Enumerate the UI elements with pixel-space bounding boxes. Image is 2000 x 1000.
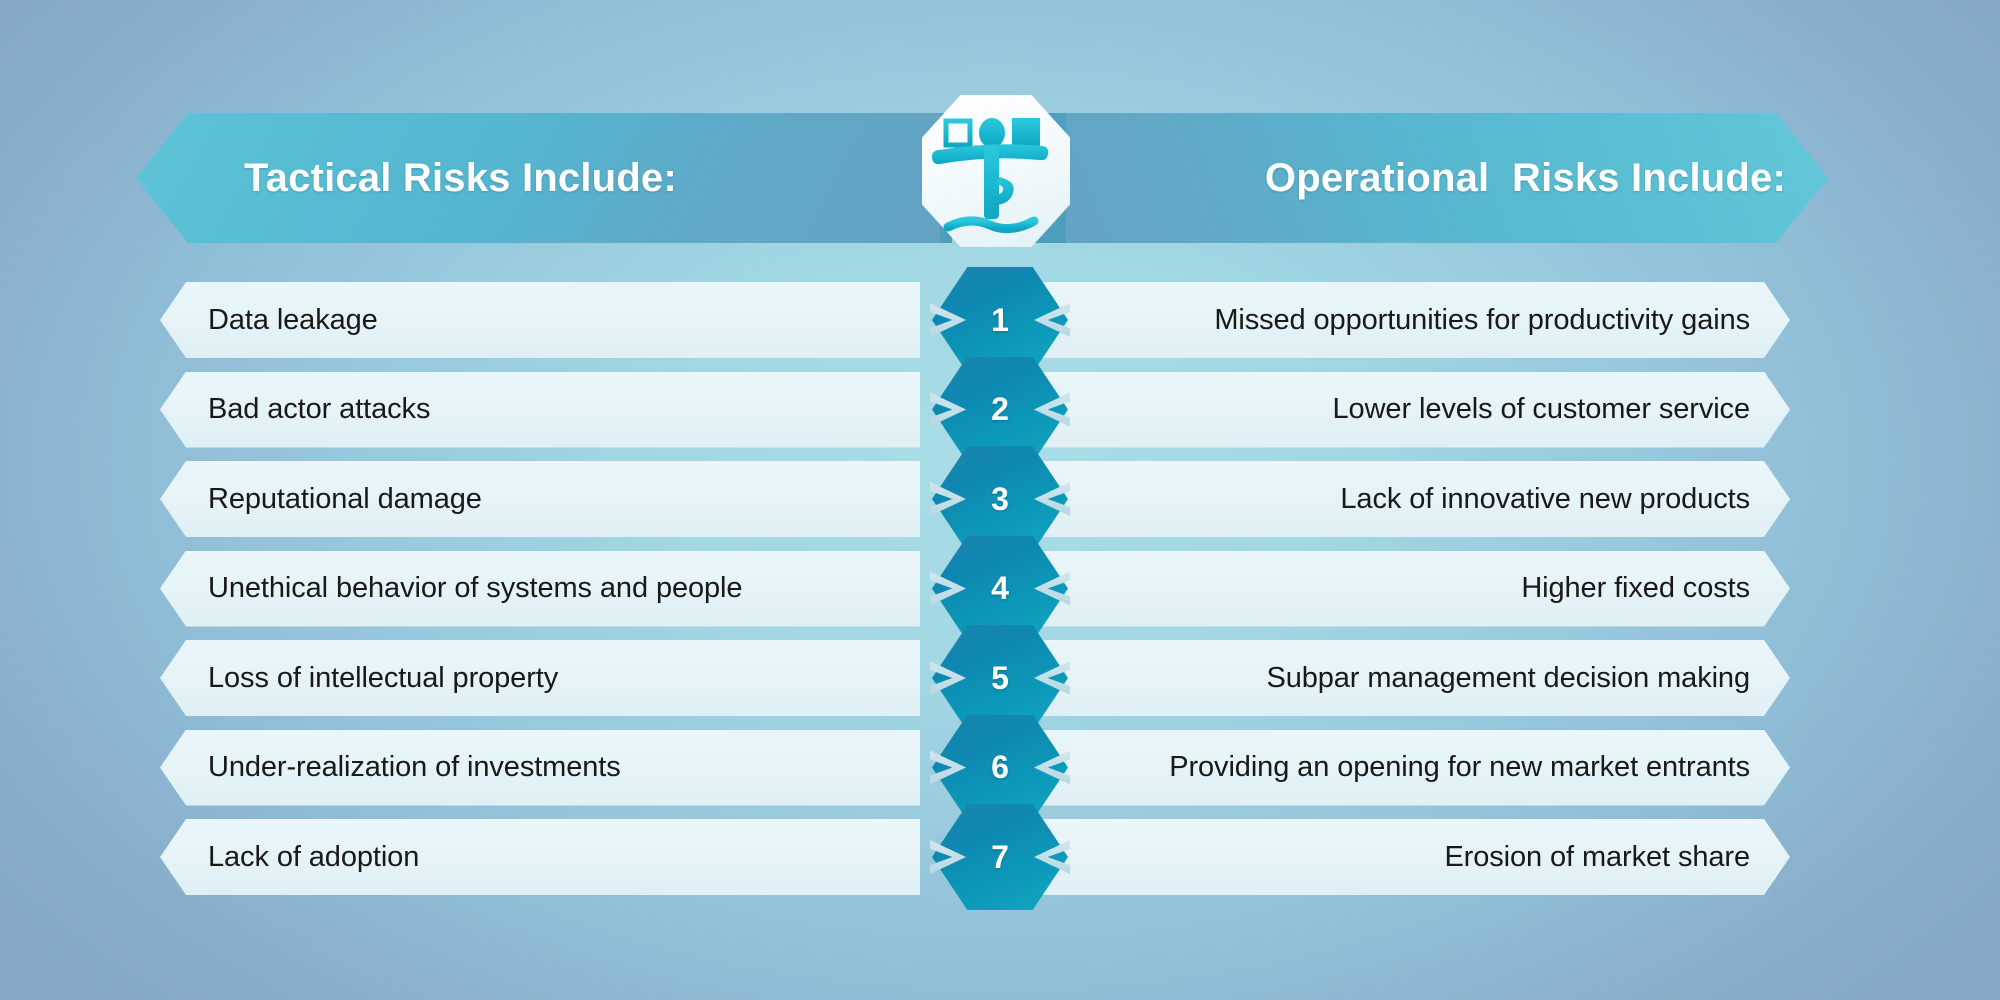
operational-risk-label: Lower levels of customer service: [1333, 393, 1750, 426]
tactical-risk-row: Data leakage: [160, 282, 920, 358]
operational-risk-row: Lower levels of customer service: [1020, 372, 1790, 448]
tactical-risks-banner: Tactical Risks Include:: [136, 113, 940, 243]
operational-risk-row: Erosion of market share: [1020, 819, 1790, 895]
operational-risk-row: Lack of innovative new products: [1020, 461, 1790, 537]
tactical-risk-row: Bad actor attacks: [160, 372, 920, 448]
operational-risk-row: Missed opportunities for productivity ga…: [1020, 282, 1790, 358]
operational-risks-title: Operational Risks Include:: [1265, 156, 1786, 201]
tactical-risk-label: Unethical behavior of systems and people: [208, 572, 742, 605]
tactical-risks-title: Tactical Risks Include:: [244, 156, 677, 201]
operational-risk-row: Subpar management decision making: [1020, 640, 1790, 716]
operational-risk-label: Missed opportunities for productivity ga…: [1214, 304, 1750, 337]
balancing-person-icon: [922, 95, 1070, 247]
operational-risk-label: Erosion of market share: [1444, 841, 1750, 874]
operational-risk-row: Higher fixed costs: [1020, 551, 1790, 627]
operational-risk-label: Subpar management decision making: [1266, 662, 1750, 695]
operational-risk-label: Providing an opening for new market entr…: [1169, 751, 1750, 784]
operational-risk-label: Higher fixed costs: [1521, 572, 1750, 605]
tactical-risk-label: Reputational damage: [208, 483, 482, 516]
tactical-risk-row: Unethical behavior of systems and people: [160, 551, 920, 627]
step-number: 4: [991, 570, 1009, 607]
tactical-risk-row: Loss of intellectual property: [160, 640, 920, 716]
tactical-risk-row: Reputational damage: [160, 461, 920, 537]
step-number: 7: [991, 839, 1009, 876]
tactical-risk-row: Under-realization of investments: [160, 730, 920, 806]
step-number: 2: [991, 391, 1009, 428]
operational-risk-label: Lack of innovative new products: [1340, 483, 1750, 516]
tactical-risk-label: Under-realization of investments: [208, 751, 621, 784]
operational-risk-row: Providing an opening for new market entr…: [1020, 730, 1790, 806]
tactical-risk-label: Bad actor attacks: [208, 393, 430, 426]
operational-risks-banner: Operational Risks Include:: [1066, 113, 1828, 243]
step-number: 6: [991, 749, 1009, 786]
infographic-canvas: Tactical Risks Include: Operational Risk…: [0, 0, 2000, 1000]
step-number: 5: [991, 660, 1009, 697]
tactical-risk-label: Loss of intellectual property: [208, 662, 558, 695]
step-number-badge: 7: [932, 804, 1068, 910]
tactical-risk-row: Lack of adoption: [160, 819, 920, 895]
tactical-risk-label: Lack of adoption: [208, 841, 419, 874]
step-number: 1: [991, 302, 1009, 339]
tactical-risk-label: Data leakage: [208, 304, 378, 337]
step-number: 3: [991, 481, 1009, 518]
